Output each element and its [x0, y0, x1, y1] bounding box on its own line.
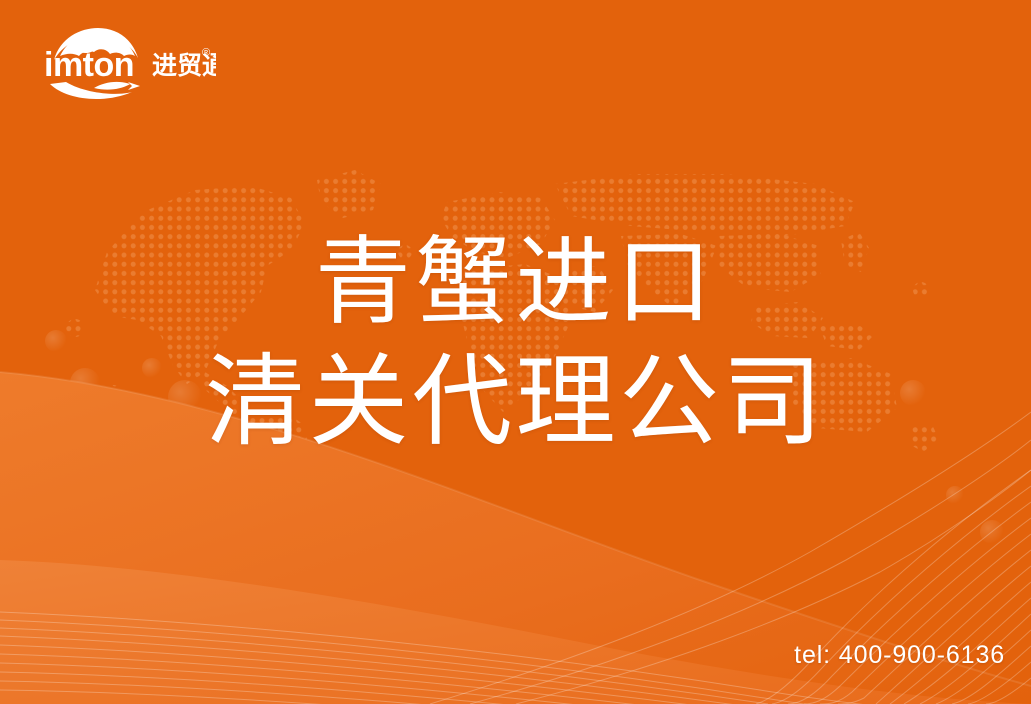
promotional-banner: imton 进贸通 ® 青蟹进口 清关代理公司 tel: 400-900-613… — [0, 0, 1031, 704]
swoosh-arrow-icon — [50, 82, 140, 99]
headline-line-2: 清关代理公司 — [0, 345, 1031, 459]
headline-line-1: 青蟹进口 — [0, 228, 1031, 337]
logo-latin-text: imton — [44, 46, 134, 84]
registered-mark: ® — [202, 47, 210, 59]
bokeh-dot — [946, 486, 964, 504]
telephone-text[interactable]: tel: 400-900-6136 — [794, 641, 1005, 670]
headline-block: 青蟹进口 清关代理公司 — [0, 228, 1031, 459]
company-logo[interactable]: imton 进贸通 ® — [36, 26, 216, 100]
bokeh-dot — [980, 520, 1004, 544]
